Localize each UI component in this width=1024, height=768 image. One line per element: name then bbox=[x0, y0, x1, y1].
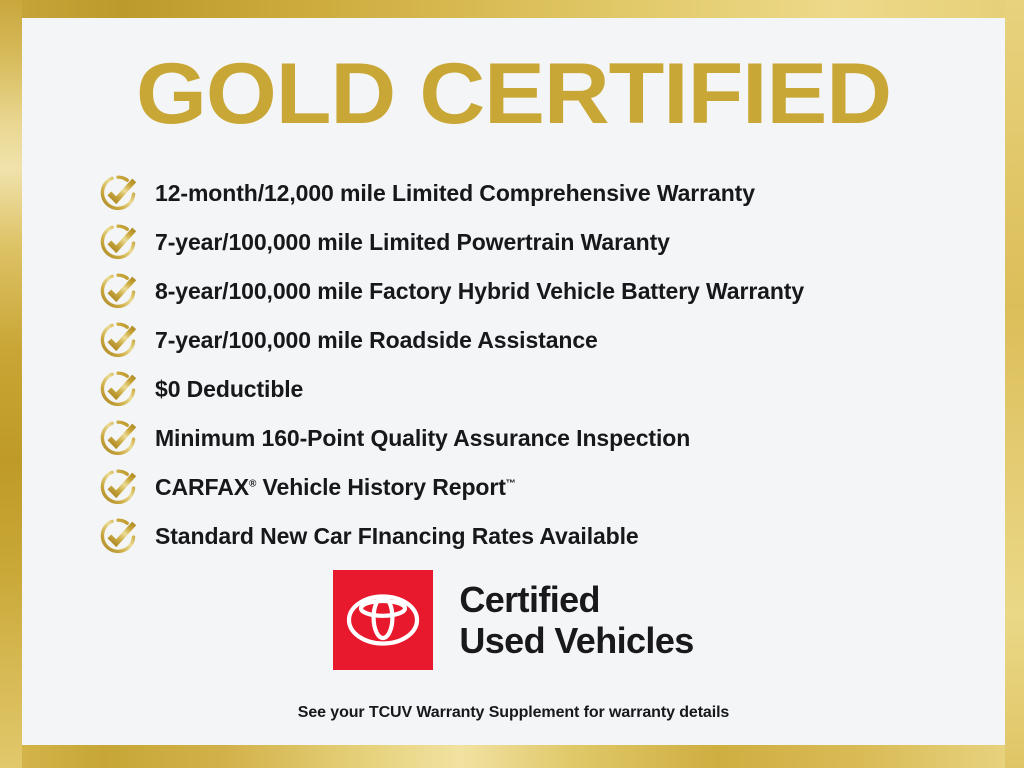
benefit-label: Standard New Car FInancing Rates Availab… bbox=[155, 523, 639, 549]
check-circle-icon bbox=[97, 271, 141, 311]
check-circle-icon bbox=[97, 173, 141, 213]
carfax-report-label: Vehicle History Report bbox=[256, 474, 506, 500]
check-circle-icon bbox=[97, 222, 141, 262]
list-item: 7-year/100,000 mile Limited Powertrain W… bbox=[97, 217, 997, 266]
benefits-list: 12-month/12,000 mile Limited Comprehensi… bbox=[97, 168, 997, 560]
list-item: 8-year/100,000 mile Factory Hybrid Vehic… bbox=[97, 266, 997, 315]
carfax-wordmark: CARFAX bbox=[155, 474, 249, 500]
benefit-label: 7-year/100,000 mile Roadside Assistance bbox=[155, 327, 598, 353]
content-panel: GOLD CERTIFIED bbox=[22, 18, 1005, 745]
gold-frame-top bbox=[0, 0, 1024, 18]
gold-frame-bottom bbox=[0, 745, 1024, 768]
list-item: Standard New Car FInancing Rates Availab… bbox=[97, 511, 997, 560]
logo-line-certified: Certified bbox=[459, 579, 693, 620]
logo-line-used-vehicles: Used Vehicles bbox=[459, 620, 693, 661]
check-circle-icon bbox=[97, 320, 141, 360]
check-circle-icon bbox=[97, 467, 141, 507]
benefit-label: Minimum 160-Point Quality Assurance Insp… bbox=[155, 425, 690, 451]
list-item: CARFAX® Vehicle History Report™ bbox=[97, 462, 997, 511]
page-title: GOLD CERTIFIED bbox=[0, 48, 1024, 140]
benefit-label: 12-month/12,000 mile Limited Comprehensi… bbox=[155, 180, 755, 206]
check-circle-icon bbox=[97, 418, 141, 458]
check-circle-icon bbox=[97, 516, 141, 556]
logo-wordmark: Certified Used Vehicles bbox=[459, 579, 693, 661]
list-item: 7-year/100,000 mile Roadside Assistance bbox=[97, 315, 997, 364]
benefit-label: 8-year/100,000 mile Factory Hybrid Vehic… bbox=[155, 278, 804, 304]
toyota-certified-used-vehicles-logo: Certified Used Vehicles bbox=[22, 570, 1005, 670]
warranty-disclaimer: See your TCUV Warranty Supplement for wa… bbox=[22, 703, 1005, 723]
list-item: $0 Deductible bbox=[97, 364, 997, 413]
check-circle-icon bbox=[97, 369, 141, 409]
toyota-emblem-icon bbox=[333, 570, 433, 670]
benefit-label: 7-year/100,000 mile Limited Powertrain W… bbox=[155, 229, 670, 255]
list-item: 12-month/12,000 mile Limited Comprehensi… bbox=[97, 168, 997, 217]
trademark-mark: ™ bbox=[506, 478, 516, 489]
gold-certified-banner: GOLD CERTIFIED bbox=[0, 0, 1024, 768]
benefit-label: $0 Deductible bbox=[155, 376, 303, 402]
list-item: Minimum 160-Point Quality Assurance Insp… bbox=[97, 413, 997, 462]
benefit-label-carfax: CARFAX® Vehicle History Report™ bbox=[155, 474, 516, 500]
